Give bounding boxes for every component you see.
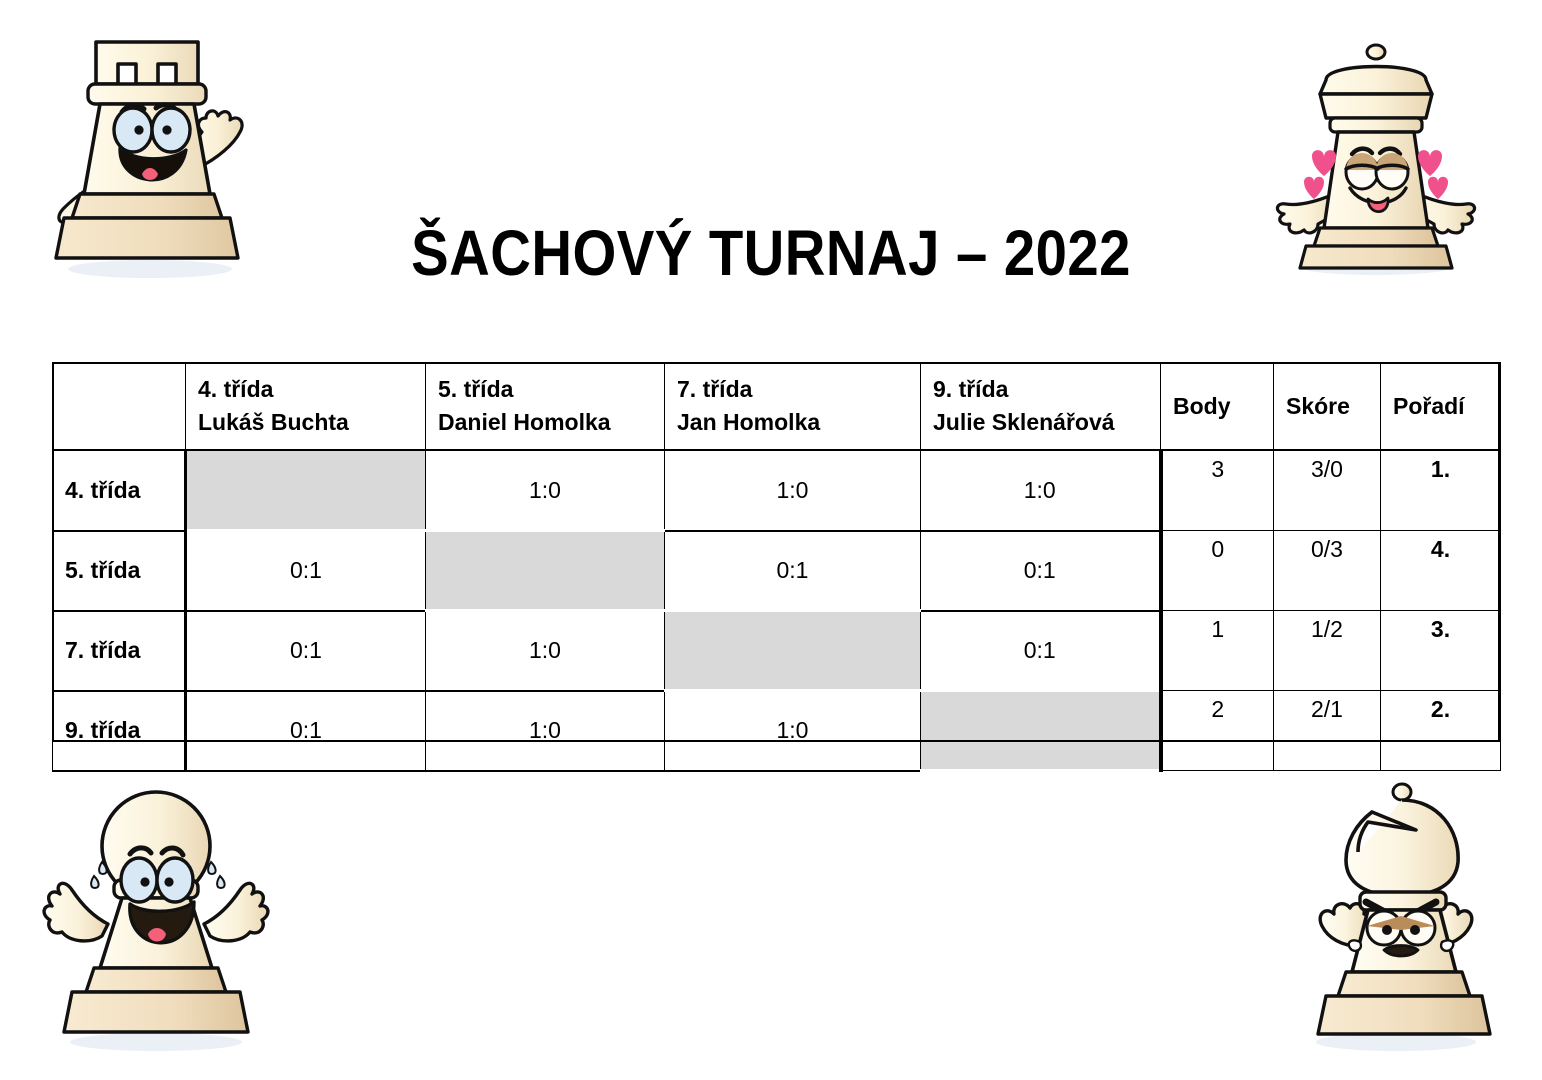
- cell-9-vs-7: 1:0: [665, 691, 921, 771]
- poradi-4: 1.: [1381, 450, 1501, 531]
- table-row: 4. třída 1:0 1:0 1:0 3 3/0 1.: [53, 450, 1501, 531]
- poradi-7: 3.: [1381, 611, 1501, 691]
- rook-happy-icon: [38, 26, 258, 284]
- header-player-2-class: 5. třída: [438, 373, 664, 406]
- row-label-5: 5. třída: [53, 531, 186, 611]
- table-row: 9. třída 0:1 1:0 1:0 2 2/1 2.: [53, 691, 1501, 771]
- body-4: 3: [1161, 450, 1274, 531]
- page-title: ŠACHOVÝ TURNAJ – 2022: [93, 216, 1450, 290]
- header-player-1-class: 4. třída: [198, 373, 425, 406]
- cell-5-vs-7: 0:1: [665, 531, 921, 611]
- cell-5-vs-9: 0:1: [921, 531, 1161, 611]
- header-player-3-name: Jan Homolka: [677, 406, 920, 439]
- skore-9: 2/1: [1274, 691, 1381, 771]
- cell-7-vs-5: 1:0: [426, 611, 665, 691]
- tournament-table: 4. třída Lukáš Buchta 5. třída Daniel Ho…: [52, 362, 1501, 772]
- header-player-4-class: 9. třída: [933, 373, 1160, 406]
- header-player-1-name: Lukáš Buchta: [198, 406, 425, 439]
- cell-7-vs-7: [665, 611, 921, 691]
- cell-9-vs-9: [921, 691, 1161, 771]
- row-label-9: 9. třída: [53, 691, 186, 771]
- body-9: 2: [1161, 691, 1274, 771]
- poradi-9: 2.: [1381, 691, 1501, 771]
- cell-5-vs-4: 0:1: [186, 531, 426, 611]
- header-player-4: 9. třída Julie Sklenářová: [921, 363, 1161, 451]
- header-body: Body: [1161, 363, 1274, 451]
- skore-5: 0/3: [1274, 531, 1381, 611]
- body-7: 1: [1161, 611, 1274, 691]
- cell-4-vs-4: [186, 450, 426, 531]
- header-corner: [53, 363, 186, 451]
- cell-9-vs-4: 0:1: [186, 691, 426, 771]
- header-player-4-name: Julie Sklenářová: [933, 406, 1160, 439]
- cell-4-vs-7: 1:0: [665, 450, 921, 531]
- header-player-3: 7. třída Jan Homolka: [665, 363, 921, 451]
- header-player-1: 4. třída Lukáš Buchta: [186, 363, 426, 451]
- pawn-scared-icon: [36, 776, 274, 1056]
- header-player-2: 5. třída Daniel Homolka: [426, 363, 665, 451]
- queen-in-love-icon: [1268, 36, 1484, 280]
- cell-4-vs-9: 1:0: [921, 450, 1161, 531]
- cell-7-vs-9: 0:1: [921, 611, 1161, 691]
- table-row: 7. třída 0:1 1:0 0:1 1 1/2 3.: [53, 611, 1501, 691]
- row-label-7: 7. třída: [53, 611, 186, 691]
- header-player-3-class: 7. třída: [677, 373, 920, 406]
- skore-4: 3/0: [1274, 450, 1381, 531]
- header-skore: Skóre: [1274, 363, 1381, 451]
- table-row: 5. třída 0:1 0:1 0:1 0 0/3 4.: [53, 531, 1501, 611]
- skore-7: 1/2: [1274, 611, 1381, 691]
- cell-7-vs-4: 0:1: [186, 611, 426, 691]
- cell-4-vs-5: 1:0: [426, 450, 665, 531]
- body-5: 0: [1161, 531, 1274, 611]
- cell-5-vs-5: [426, 531, 665, 611]
- cell-9-vs-5: 1:0: [426, 691, 665, 771]
- header-poradi: Pořadí: [1381, 363, 1501, 451]
- poradi-5: 4.: [1381, 531, 1501, 611]
- bishop-angry-icon: [1288, 776, 1504, 1056]
- row-label-4: 4. třída: [53, 450, 186, 531]
- header-player-2-name: Daniel Homolka: [438, 406, 664, 439]
- table-header-row: 4. třída Lukáš Buchta 5. třída Daniel Ho…: [53, 363, 1501, 451]
